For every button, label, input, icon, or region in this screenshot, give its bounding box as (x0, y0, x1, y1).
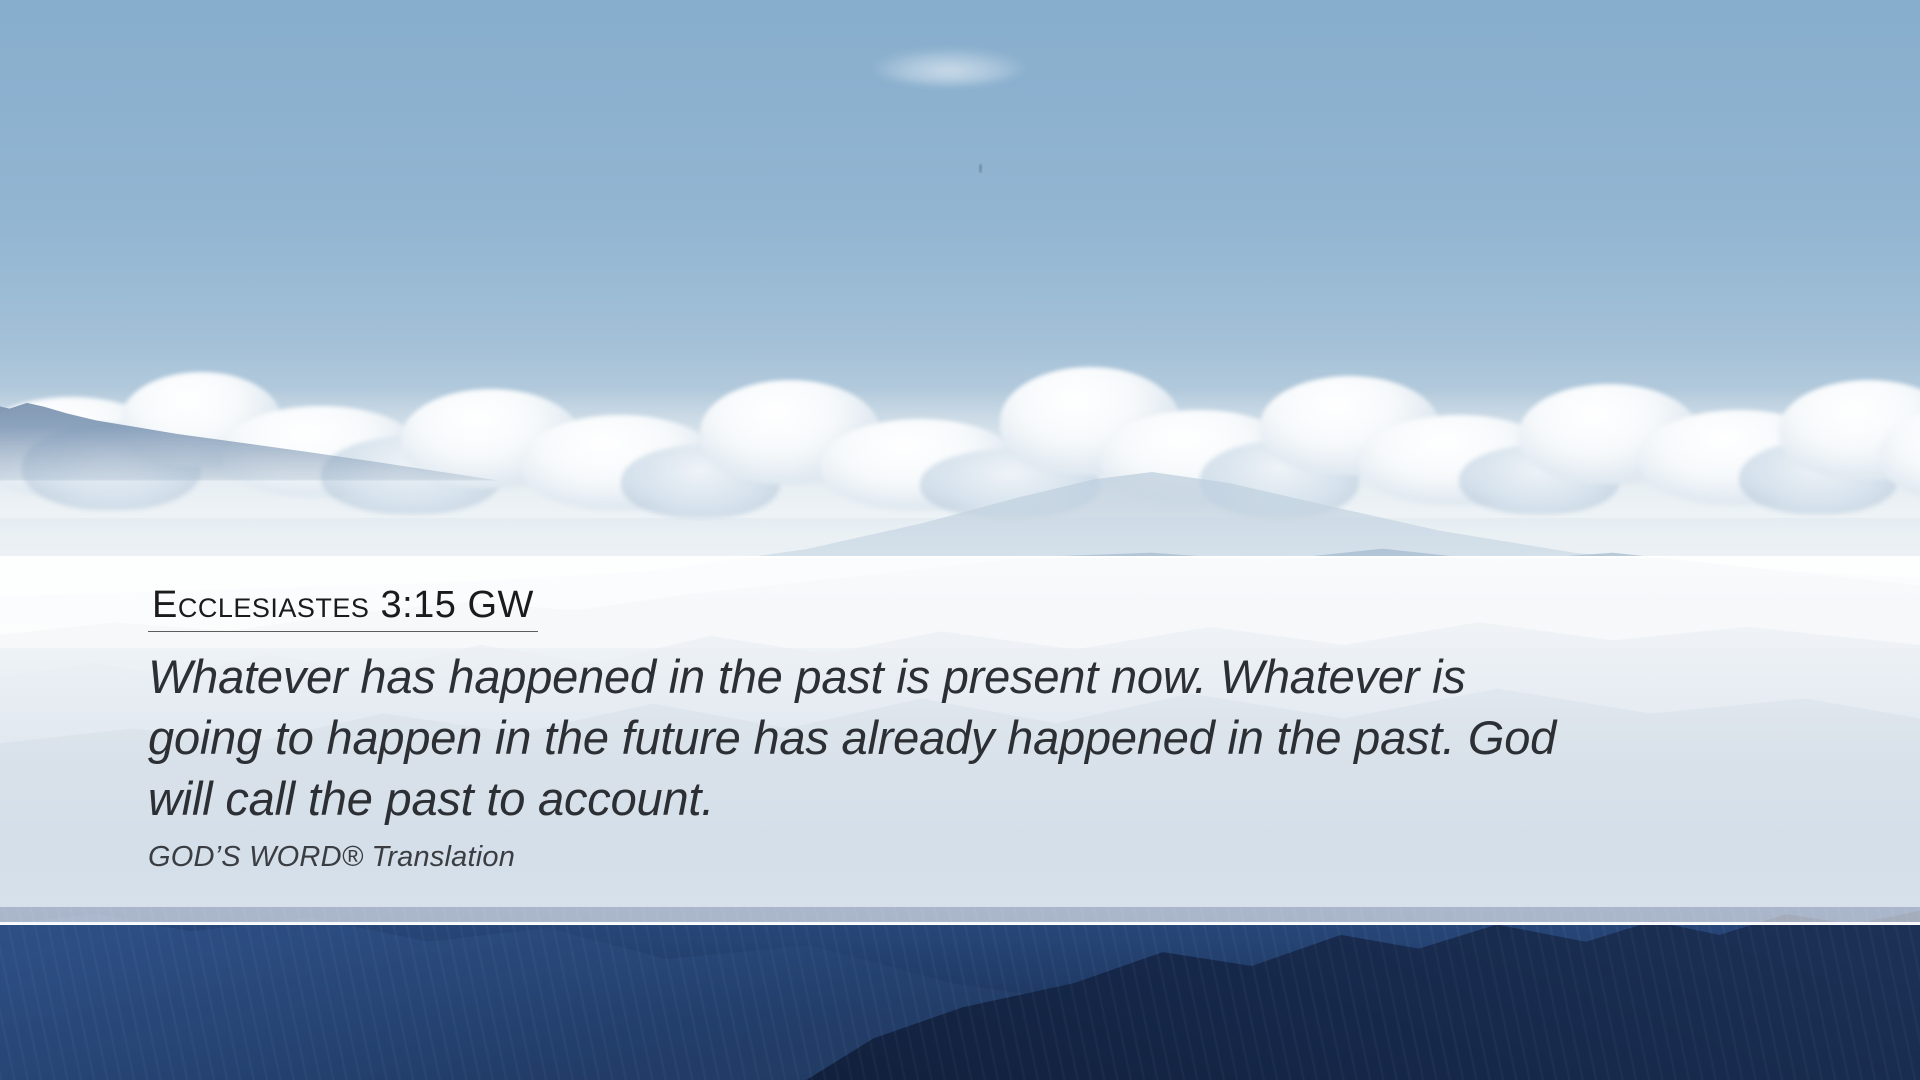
small-cloud-wisp (874, 49, 1024, 85)
verse-overlay-panel: Ecclesiastes 3:15 GW Whatever has happen… (0, 556, 1920, 925)
panel-bottom-divider (0, 922, 1920, 925)
verse-text: Whatever has happened in the past is pre… (148, 646, 1648, 829)
panel-top-divider (0, 556, 1920, 558)
translation-attribution: GOD’S WORD® Translation (148, 841, 1920, 874)
verse-text-line: will call the past to account. (148, 768, 1648, 829)
verse-image-canvas: Ecclesiastes 3:15 GW Whatever has happen… (0, 0, 1920, 1080)
verse-text-line: going to happen in the future has alread… (148, 707, 1648, 768)
verse-text-line: Whatever has happened in the past is pre… (148, 646, 1648, 707)
verse-reference: Ecclesiastes 3:15 GW (148, 586, 538, 632)
foreground-texture (0, 907, 1920, 1080)
